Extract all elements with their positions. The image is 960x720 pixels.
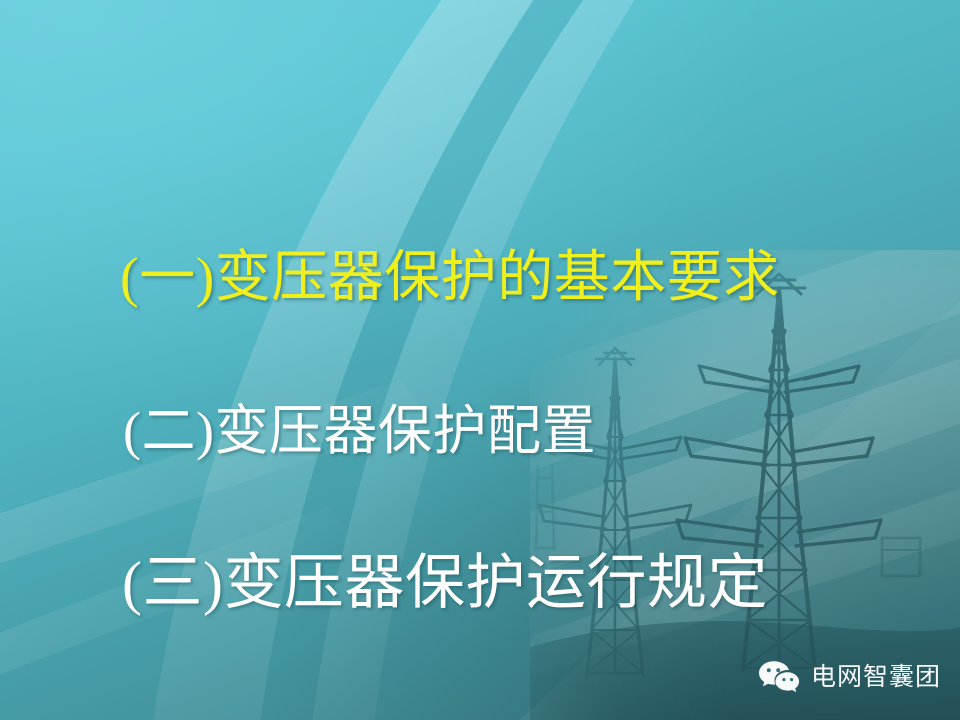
wechat-icon <box>758 660 802 694</box>
agenda-line-1: (一)变压器保护的基本要求 <box>120 248 780 310</box>
agenda-line-2: (二)变压器保护配置 <box>123 402 596 461</box>
watermark-label: 电网智囊团 <box>811 665 941 690</box>
agenda-list: (一)变压器保护的基本要求 (二)变压器保护配置 (三)变压器保护运行规定 <box>0 0 960 720</box>
slide-canvas: (一)变压器保护的基本要求 (二)变压器保护配置 (三)变压器保护运行规定 电网… <box>0 0 960 720</box>
agenda-line-3: (三)变压器保护运行规定 <box>122 550 768 616</box>
watermark: 电网智囊团 <box>758 660 941 694</box>
